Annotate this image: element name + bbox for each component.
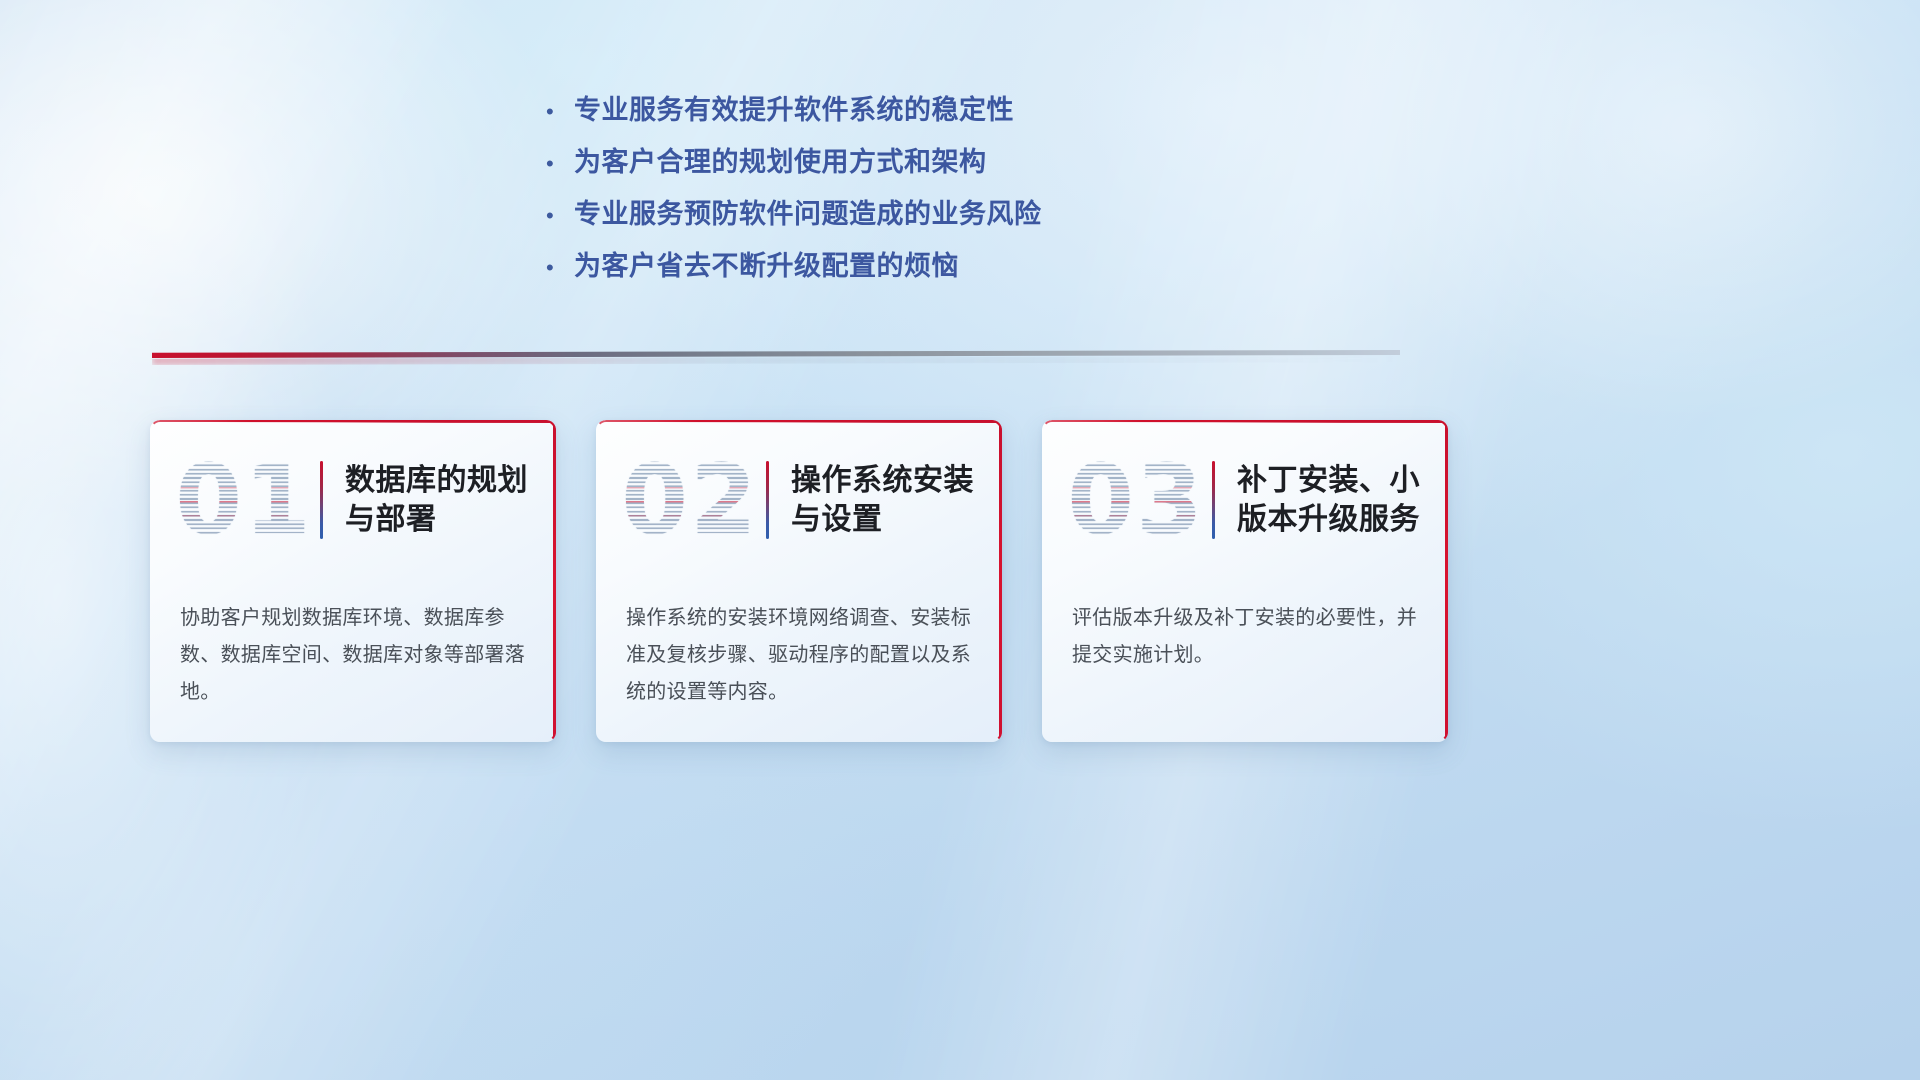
service-card-01[interactable]: 01 01 数据库的规划与部署 协助客户规划数据库环境、数据库参数、数据库空间、… (150, 420, 556, 742)
card-header: 03 03 补丁安装、小版本升级服务 (1042, 420, 1448, 580)
bullet-text-4: 为客户省去不断升级配置的烦恼 (574, 244, 959, 283)
card-body-text: 评估版本升级及补丁安装的必要性，并提交实施计划。 (1042, 600, 1448, 674)
card-number-glyph-tint: 03 (1066, 445, 1206, 555)
card-number-glyph-tint: 01 (174, 445, 314, 555)
card-title: 数据库的规划与部署 (345, 461, 556, 539)
divider-bar (152, 350, 1400, 358)
card-number-watermark: 01 01 (174, 445, 314, 555)
card-header: 01 01 数据库的规划与部署 (150, 420, 556, 580)
card-number-watermark: 03 03 (1066, 445, 1206, 555)
card-title: 补丁安装、小版本升级服务 (1237, 461, 1448, 539)
list-item: • 为客户省去不断升级配置的烦恼 (540, 244, 1180, 296)
service-card-02[interactable]: 02 02 操作系统安装与设置 操作系统的安装环境网络调查、安装标准及复核步骤、… (596, 420, 1002, 742)
list-item: • 专业服务预防软件问题造成的业务风险 (540, 192, 1180, 244)
bullet-dot-icon: • (540, 257, 574, 279)
card-body-text: 操作系统的安装环境网络调查、安装标准及复核步骤、驱动程序的配置以及系统的设置等内… (596, 600, 1002, 711)
card-divider-bar-icon (320, 461, 323, 539)
bullet-dot-icon: • (540, 101, 574, 123)
service-card-03[interactable]: 03 03 补丁安装、小版本升级服务 评估版本升级及补丁安装的必要性，并提交实施… (1042, 420, 1448, 742)
card-number-glyph-tint: 02 (620, 445, 760, 555)
bullet-dot-icon: • (540, 153, 574, 175)
card-header: 02 02 操作系统安装与设置 (596, 420, 1002, 580)
bullet-text-1: 专业服务有效提升软件系统的稳定性 (574, 88, 1014, 127)
card-divider-bar-icon (1212, 461, 1215, 539)
list-item: • 专业服务有效提升软件系统的稳定性 (540, 88, 1180, 140)
benefits-bullet-list: • 专业服务有效提升软件系统的稳定性 • 为客户合理的规划使用方式和架构 • 专… (540, 88, 1180, 296)
bullet-dot-icon: • (540, 205, 574, 227)
card-divider-bar-icon (766, 461, 769, 539)
bullet-text-3: 专业服务预防软件问题造成的业务风险 (574, 192, 1042, 231)
list-item: • 为客户合理的规划使用方式和架构 (540, 140, 1180, 192)
divider-glow (152, 356, 1400, 365)
card-number-watermark: 02 02 (620, 445, 760, 555)
bullet-text-2: 为客户合理的规划使用方式和架构 (574, 140, 987, 179)
card-title: 操作系统安装与设置 (791, 461, 1002, 539)
card-body-text: 协助客户规划数据库环境、数据库参数、数据库空间、数据库对象等部署落地。 (150, 600, 556, 711)
service-cards: 01 01 数据库的规划与部署 协助客户规划数据库环境、数据库参数、数据库空间、… (150, 420, 1650, 745)
section-divider (152, 350, 1400, 362)
